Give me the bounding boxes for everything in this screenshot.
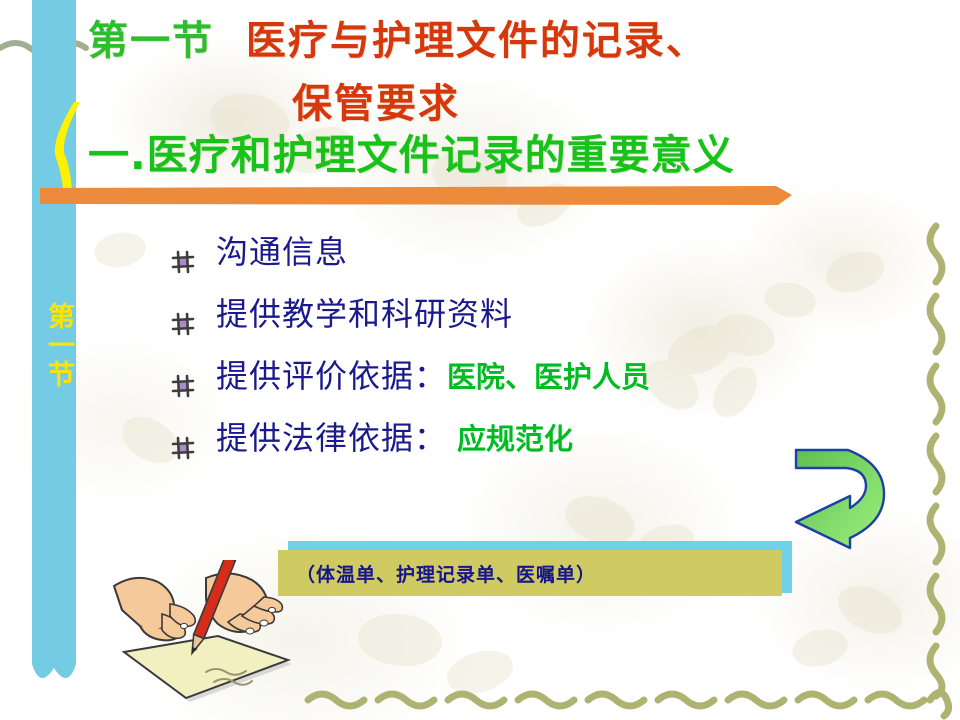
- hash-bullet-icon: [170, 373, 216, 401]
- callout-label: （体温单、护理记录单、医嘱单）: [278, 560, 596, 587]
- page-title-section: 第一节: [88, 18, 214, 64]
- list-item-label: 提供法律依据：: [216, 419, 447, 457]
- list-item: 提供教学和科研资料: [170, 294, 870, 356]
- orange-rule: [40, 186, 792, 206]
- list-item: 沟通信息: [170, 232, 870, 294]
- hash-bullet-icon: [170, 249, 216, 277]
- list-item-accent: 医院、医护人员: [447, 360, 650, 394]
- page-title-line2: 保管要求: [292, 78, 460, 130]
- slide-canvas: 第一节 第一节 医疗与护理文件的记录、 保管要求 一.医疗和护理文件记录的重要意…: [0, 0, 960, 720]
- curved-green-arrow-icon: [788, 430, 898, 550]
- list-item-label-wrap: 提供评价依据：医院、医护人员: [216, 356, 650, 397]
- sidebar-section-label: 第一节: [30, 280, 78, 410]
- wavy-border-bottom-icon: [300, 680, 960, 720]
- yellow-bracket-icon: [50, 100, 90, 200]
- list-item-label-wrap: 提供法律依据：应规范化: [216, 418, 573, 459]
- page-subtitle: 一.医疗和护理文件记录的重要意义: [88, 128, 735, 182]
- list-item-label: 提供教学和科研资料: [216, 294, 513, 334]
- callout-box: （体温单、护理记录单、医嘱单）: [278, 550, 782, 596]
- page-title-main: 医疗与护理文件的记录、: [246, 18, 708, 64]
- bullet-list: 沟通信息 提供教学和科研资料: [170, 232, 870, 480]
- hash-bullet-icon: [170, 435, 216, 463]
- list-item-label: 沟通信息: [216, 232, 348, 272]
- page-title-line1: 第一节 医疗与护理文件的记录、: [88, 14, 708, 68]
- list-item: 提供评价依据：医院、医护人员: [170, 356, 870, 418]
- list-item-label: 提供评价依据：: [216, 357, 447, 395]
- wavy-border-right-icon: [916, 220, 956, 700]
- list-item-accent: 应规范化: [457, 422, 573, 456]
- list-item: 提供法律依据：应规范化: [170, 418, 870, 480]
- hash-bullet-icon: [170, 311, 216, 339]
